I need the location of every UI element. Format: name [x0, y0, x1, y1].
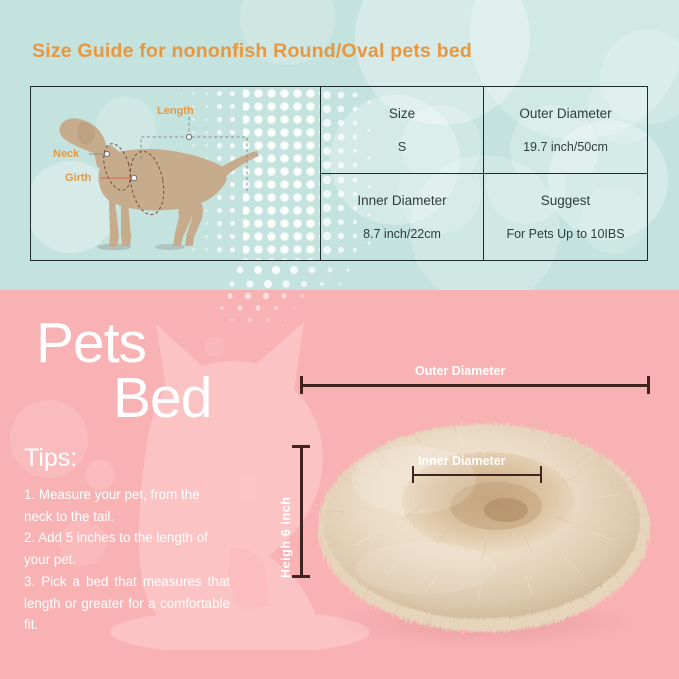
outer-diameter-cap-left [300, 376, 303, 394]
spec-value: S [398, 140, 406, 154]
tip-item: 3. Pick a bed that measures that length … [24, 571, 230, 636]
size-guide-section: Size Guide for nononfish Round/Oval pets… [0, 0, 679, 290]
neck-label: Neck [53, 148, 79, 160]
bed-section: Pets Bed Tips: 1. Measure your pet, from… [0, 290, 679, 679]
height-cap-bottom [292, 575, 310, 578]
spec-value: 19.7 inch/50cm [523, 140, 608, 154]
spec-cell-inner-diameter: Inner Diameter 8.7 inch/22cm [321, 174, 484, 261]
pet-bed-photo [310, 410, 660, 655]
halftone-spill [170, 262, 570, 290]
bokeh-decoration [484, 87, 647, 174]
inner-diameter-label: Inner Diameter [418, 454, 506, 468]
inner-diameter-bar [412, 474, 542, 476]
height-label: Heigh 6 inch [279, 496, 293, 578]
dog-diagram-cell: Length Neck Girth [31, 87, 321, 260]
heading-pets: Pets [36, 315, 146, 372]
spec-header: Outer Diameter [519, 106, 611, 121]
inner-diameter-cap-left [412, 466, 414, 483]
heading-bed: Bed [113, 370, 211, 427]
spec-cell-size: Size S [321, 87, 484, 174]
size-specs-table: Length Neck Girth [30, 86, 648, 261]
spec-grid: Size S Outer Diameter 19.7 inch/50cm [321, 87, 647, 260]
tips-label: Tips: [24, 446, 77, 471]
spec-header: Size [389, 106, 415, 121]
size-guide-title: Size Guide for nononfish Round/Oval pets… [32, 40, 472, 63]
length-label: Length [157, 105, 194, 117]
outer-diameter-cap-right [647, 376, 650, 394]
height-cap-top [292, 445, 310, 448]
spec-cell-suggest: Suggest For Pets Up to 10IBS [484, 174, 647, 261]
outer-diameter-label: Outer Diameter [415, 364, 505, 378]
halftone-decoration [321, 174, 484, 261]
spec-header: Suggest [541, 193, 591, 208]
bokeh-decoration [484, 174, 647, 261]
spec-value: 8.7 inch/22cm [363, 227, 441, 241]
spec-cell-outer-diameter: Outer Diameter 19.7 inch/50cm [484, 87, 647, 174]
halftone-decoration [321, 87, 484, 174]
girth-label: Girth [65, 172, 91, 184]
tip-item: 2. Add 5 inches to the length of your pe… [24, 527, 230, 570]
height-bar [300, 445, 303, 577]
spec-header: Inner Diameter [357, 193, 446, 208]
spec-value: For Pets Up to 10IBS [506, 227, 624, 241]
outer-diameter-bar [300, 384, 650, 387]
tip-item: 1. Measure your pet, from the neck to th… [24, 484, 230, 527]
infographic-page: Size Guide for nononfish Round/Oval pets… [0, 0, 679, 679]
halftone-spill-pink [170, 290, 490, 335]
tips-list: 1. Measure your pet, from the neck to th… [24, 484, 230, 636]
inner-diameter-cap-right [540, 466, 542, 483]
